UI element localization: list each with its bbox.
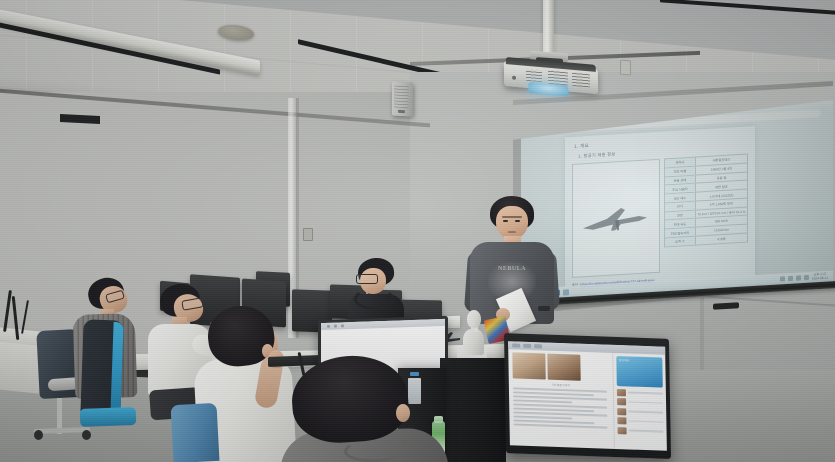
sidebar-ad-banner[interactable]: 광고 배너 [616,356,663,388]
thumbnail-title [628,392,663,395]
chair-wheel [34,430,43,440]
projector-vent-icon [526,69,542,82]
student-gray-tee-closest [292,356,452,462]
aircraft-silhouette-icon [581,204,651,236]
speaker-base [398,110,405,113]
volume-icon[interactable] [788,276,793,281]
battery-icon[interactable] [796,275,801,280]
browser-tab[interactable] [534,344,542,348]
toolbar-icon[interactable] [341,324,344,327]
address-bar-url: https://ko.wikipedia.org/wiki/ [531,125,587,133]
wall-switch-plate[interactable] [620,60,631,76]
projection-surface: https://ko.wikipedia.org/wiki/ 1. 개요 1. … [513,100,833,315]
taskbar-clock[interactable]: 오후 2:47 2024-06-11 [812,273,828,281]
wrist-watch-icon [538,306,550,311]
sidebar-thumbnail-item[interactable] [616,389,662,398]
toolbar-icon[interactable] [334,325,337,328]
sidebar-thumbnail-item[interactable] [617,408,663,417]
glasses-icon [356,274,378,284]
thumbnail-image [617,408,626,415]
mouth [508,231,516,233]
ceiling-rail-right [660,0,835,16]
document-body: 제작사대한항공테크최초 비행1969년 2월 9일운용 상태운용 중주요 사용자… [572,154,748,278]
new-tab-button[interactable] [600,111,608,118]
browser-tab[interactable] [558,113,578,121]
speaker-grill-icon [394,86,409,109]
thumbnail-image [617,417,626,424]
sidebar-thumbnail-item[interactable] [617,427,663,436]
projected-document: 1. 개요 1. 항공기 제원 정보 제작사대한항공테크최초 비행1969년 2… [565,126,755,287]
eyebrow [502,216,522,218]
browser-tab[interactable] [581,111,597,119]
wall-speaker [392,81,413,116]
bust-torso [463,329,484,355]
plaster-bust-sculpture [462,310,484,354]
projector-vent-icon [572,72,590,88]
shirt-graphic-text: NEBULA [488,266,536,272]
monitor-showing-webpage: 기사 본문 이미지 광고 배너 [504,333,671,459]
thumbnail-image [616,389,625,396]
projector-mount-pole [543,0,554,56]
face [496,206,528,239]
article-photo [512,352,545,379]
article-text-line [513,400,572,404]
browser-tab[interactable] [527,114,555,123]
spec-value: 416명 [696,234,747,245]
sidebar-column: 광고 배너 [612,353,667,451]
article-column: 기사 본문 이미지 [508,349,613,449]
chair-wheel [82,430,91,440]
thumbnail-image [617,398,626,405]
bust-head [467,310,481,328]
projection-screen: https://ko.wikipedia.org/wiki/ 1. 개요 1. … [513,100,833,315]
marker-tray-block [713,302,739,310]
article-text-line [514,424,608,429]
browser-tab[interactable] [512,343,520,347]
classroom-photo: https://ko.wikipedia.org/wiki/ 1. 개요 1. … [0,0,835,462]
spec-table: 제작사대한항공테크최초 비행1969년 2월 9일운용 상태운용 중주요 사용자… [664,154,748,273]
article-photos [512,352,608,381]
projector-indicator-icon [512,76,516,80]
chair-seat [80,407,137,427]
sidebar-ad-text: 광고 배너 [619,359,629,363]
thumbnail-title [628,411,663,414]
headphones-icon [354,288,394,310]
office-chair-blue-front[interactable] [171,403,220,462]
article-text-line [513,416,572,420]
browser-tab[interactable] [523,344,531,348]
spec-key: 승객 수 [665,237,696,247]
app-window-toolbar [321,319,445,330]
editor-icon[interactable] [563,289,569,295]
webpage-body: 기사 본문 이미지 광고 배너 [508,349,667,451]
toolbar-icon[interactable] [327,325,330,328]
browser-tab-strip[interactable] [527,111,608,123]
projected-browser-window[interactable]: https://ko.wikipedia.org/wiki/ 1. 개요 1. … [521,100,833,300]
clock-date: 2024-06-11 [812,275,828,280]
wall-outlet[interactable] [303,228,313,241]
thumbnail-title [628,420,663,423]
thumbnail-title [628,401,663,404]
sidebar-thumbnail-item[interactable] [617,417,663,426]
sidebar-thumbnail-item[interactable] [617,398,663,407]
ear [396,404,410,422]
thumbnail-title [628,430,663,433]
ime-icon[interactable] [804,275,809,280]
thumbnail-image [617,427,626,434]
article-photo [547,354,580,381]
webpage-screen[interactable]: 기사 본문 이미지 광고 배너 [508,341,667,451]
aircraft-figure [572,159,660,278]
network-icon[interactable] [780,276,785,281]
